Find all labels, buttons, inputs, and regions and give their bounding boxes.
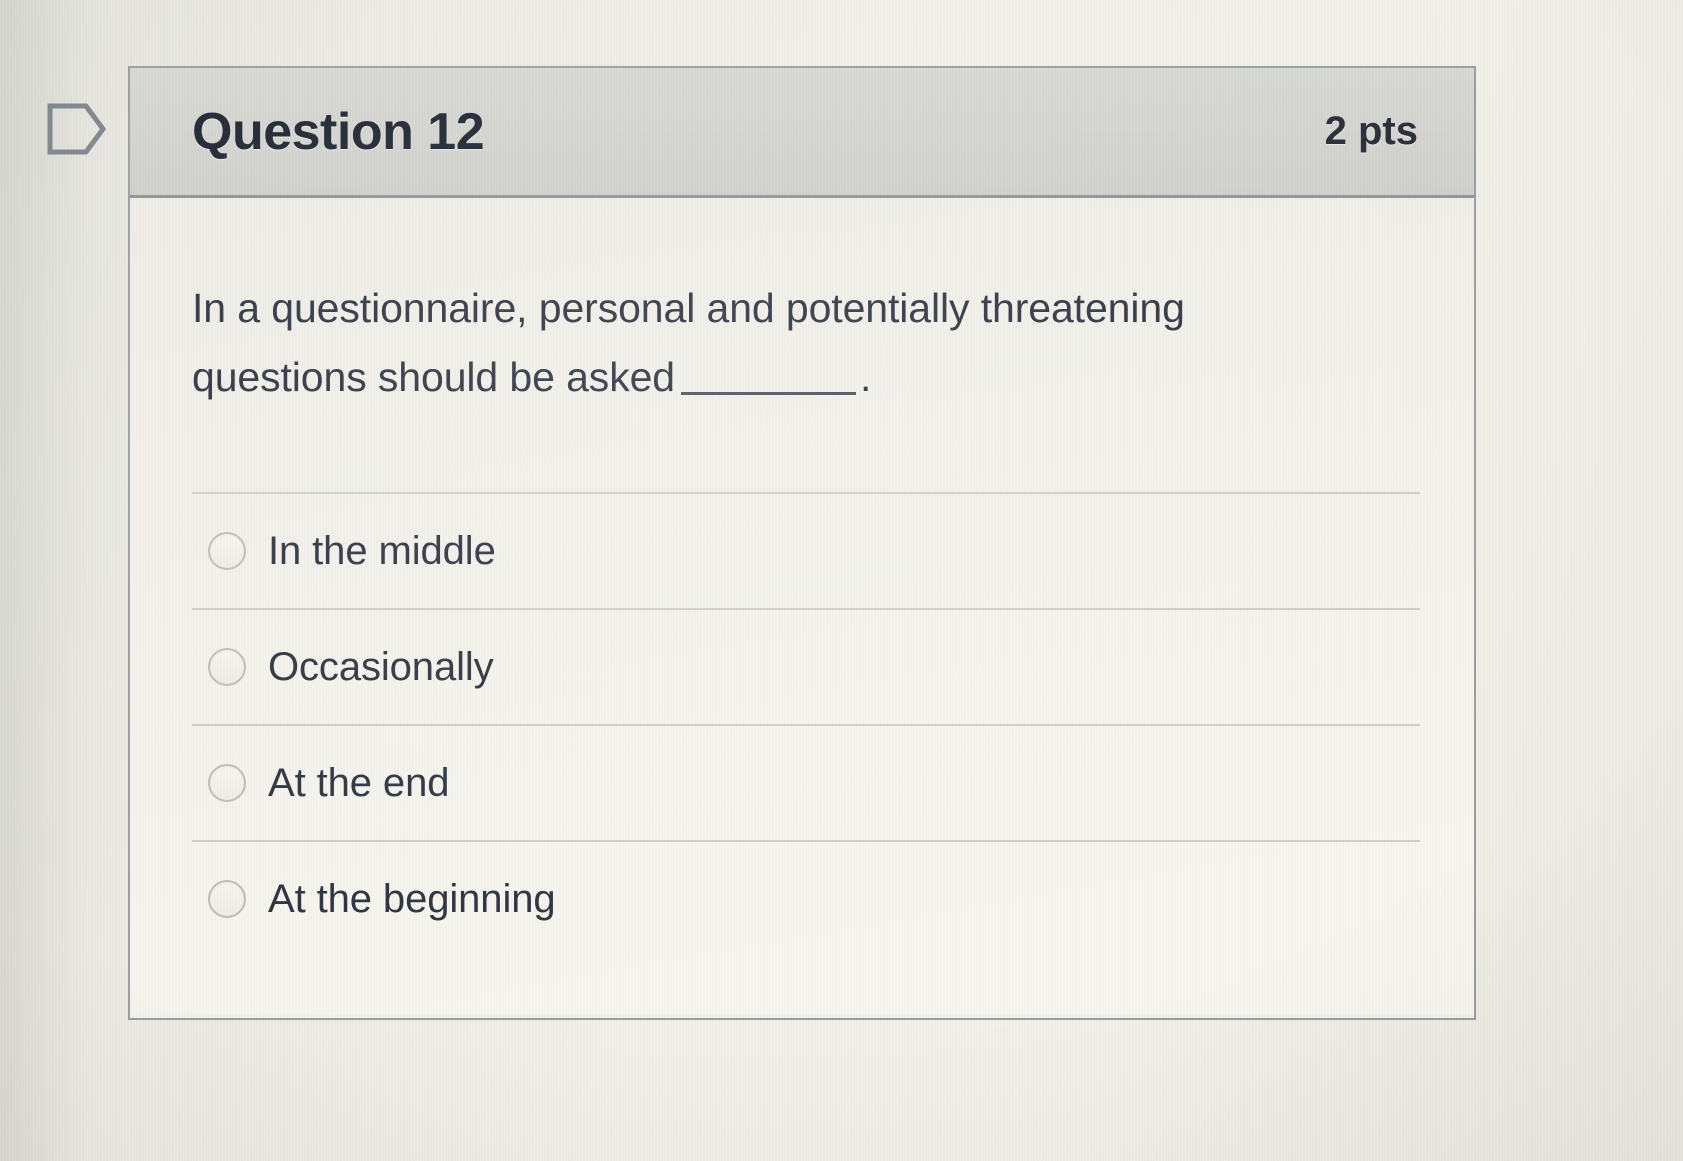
- radio-button-icon[interactable]: [208, 880, 246, 918]
- question-prompt-sentence: In a questionnaire, personal and potenti…: [192, 285, 1185, 400]
- radio-button-icon[interactable]: [208, 532, 246, 570]
- question-points: 2 pts: [1325, 109, 1434, 154]
- question-card: Question 12 2 pts In a questionnaire, pe…: [128, 66, 1476, 1020]
- answer-options-list: In the middle Occasionally At the end At…: [192, 492, 1420, 956]
- answer-option-at-the-end[interactable]: At the end: [192, 724, 1420, 840]
- answer-option-label: At the end: [268, 761, 449, 805]
- question-header: Question 12 2 pts: [130, 68, 1474, 198]
- answer-option-in-the-middle[interactable]: In the middle: [192, 492, 1420, 608]
- radio-button-icon[interactable]: [208, 648, 246, 686]
- answer-blank: [681, 392, 856, 395]
- radio-button-icon[interactable]: [208, 764, 246, 802]
- answer-option-label: At the beginning: [268, 877, 556, 921]
- answer-option-label: Occasionally: [268, 645, 494, 689]
- screenshot-page: Question 12 2 pts In a questionnaire, pe…: [0, 0, 1683, 1161]
- flag-icon[interactable]: [46, 100, 108, 158]
- answer-option-at-the-beginning[interactable]: At the beginning: [192, 840, 1420, 956]
- answer-option-occasionally[interactable]: Occasionally: [192, 608, 1420, 724]
- question-body: In a questionnaire, personal and potenti…: [130, 198, 1474, 1015]
- question-prompt-text: In a questionnaire, personal and potenti…: [192, 274, 1322, 412]
- answer-option-label: In the middle: [268, 529, 496, 573]
- question-title: Question 12: [192, 102, 484, 162]
- question-prompt-period: .: [860, 354, 871, 400]
